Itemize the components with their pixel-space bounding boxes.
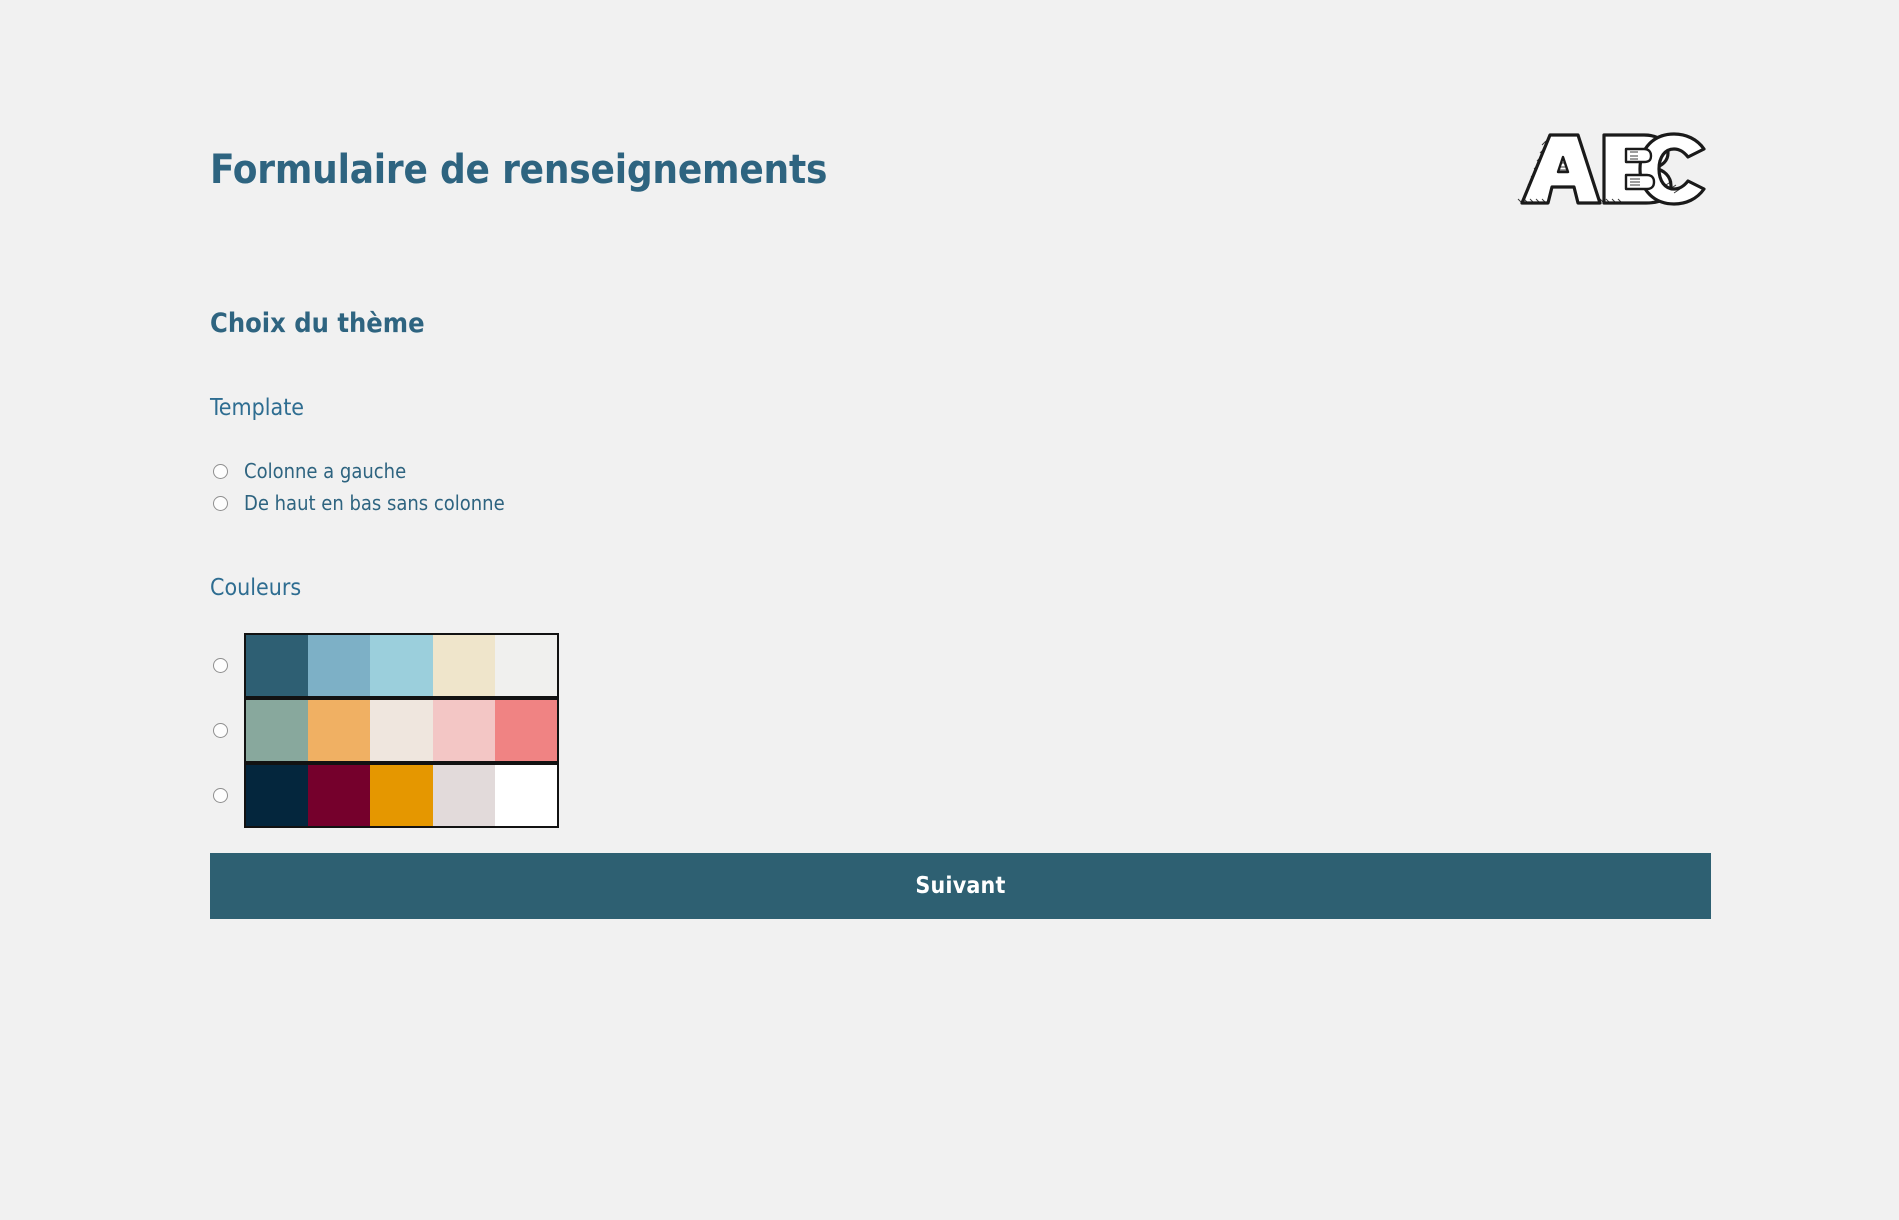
form-content: Formulaire de renseignements — [210, 0, 1711, 919]
palette-swatch — [370, 635, 432, 696]
section-heading: Choix du thème — [210, 308, 1711, 339]
palette-swatch — [308, 700, 370, 761]
radio-option-de-haut-en-bas[interactable]: De haut en bas sans colonne — [210, 487, 1711, 519]
page-header: Formulaire de renseignements — [210, 125, 1711, 255]
colors-field-label: Couleurs — [210, 575, 1711, 601]
palette-swatch — [495, 635, 557, 696]
palette-swatch-strip[interactable] — [244, 698, 559, 763]
palette-option-3[interactable] — [210, 763, 1711, 828]
palette-swatch — [495, 700, 557, 761]
template-radio-group: Colonne a gauche De haut en bas sans col… — [210, 455, 1711, 519]
radio-circle-icon[interactable] — [213, 496, 228, 511]
palette-swatch — [246, 765, 308, 826]
palette-option-1[interactable] — [210, 633, 1711, 698]
palette-swatch — [370, 765, 432, 826]
radio-option-label: Colonne a gauche — [244, 461, 406, 481]
palette-swatch — [246, 635, 308, 696]
radio-option-label: De haut en bas sans colonne — [244, 493, 505, 513]
radio-circle-icon[interactable] — [213, 723, 228, 738]
palette-radio-group — [210, 633, 1711, 828]
palette-swatch — [433, 765, 495, 826]
radio-circle-icon[interactable] — [213, 658, 228, 673]
palette-swatch-strip[interactable] — [244, 763, 559, 828]
submit-button[interactable]: Suivant — [210, 853, 1711, 919]
palette-swatch-strip[interactable] — [244, 633, 559, 698]
submit-button-label: Suivant — [915, 873, 1005, 899]
page-title: Formulaire de renseignements — [210, 147, 827, 193]
palette-swatch — [433, 700, 495, 761]
palette-swatch — [433, 635, 495, 696]
radio-circle-icon[interactable] — [213, 788, 228, 803]
radio-option-colonne-a-gauche[interactable]: Colonne a gauche — [210, 455, 1711, 487]
palette-swatch — [495, 765, 557, 826]
palette-swatch — [308, 635, 370, 696]
palette-swatch — [308, 765, 370, 826]
radio-circle-icon[interactable] — [213, 464, 228, 479]
palette-swatch — [246, 700, 308, 761]
abc-logo — [1516, 125, 1711, 215]
form-page: Formulaire de renseignements — [0, 0, 1899, 1220]
palette-swatch — [370, 700, 432, 761]
template-field-label: Template — [210, 395, 1711, 421]
palette-option-2[interactable] — [210, 698, 1711, 763]
